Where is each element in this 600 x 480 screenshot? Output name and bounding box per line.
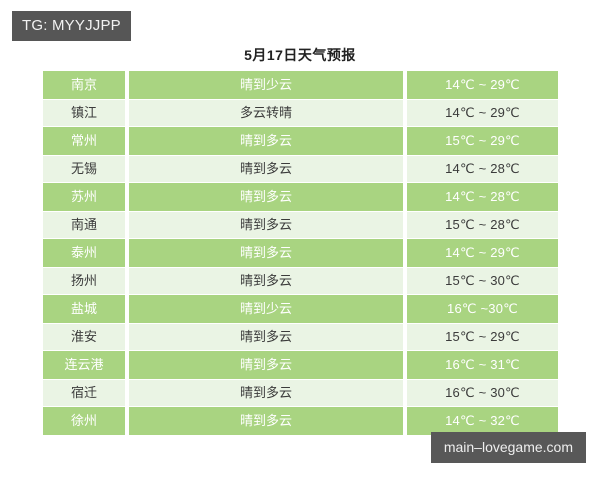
condition-cell: 晴到多云 — [129, 267, 403, 295]
city-cell: 淮安 — [43, 323, 125, 351]
table-row: 连云港晴到多云16℃ ~ 31℃ — [43, 351, 558, 379]
temperature-cell: 16℃ ~ 31℃ — [407, 351, 558, 379]
page-title: 5月17日天气预报 — [0, 45, 600, 65]
temperature-cell: 16℃ ~30℃ — [407, 295, 558, 323]
condition-cell: 晴到多云 — [129, 155, 403, 183]
condition-cell: 晴到多云 — [129, 407, 403, 435]
table-row: 泰州晴到多云14℃ ~ 29℃ — [43, 239, 558, 267]
city-cell: 徐州 — [43, 407, 125, 435]
condition-cell: 晴到多云 — [129, 127, 403, 155]
condition-cell: 晴到多云 — [129, 211, 403, 239]
temperature-cell: 15℃ ~ 29℃ — [407, 323, 558, 351]
temperature-cell: 14℃ ~ 28℃ — [407, 155, 558, 183]
table-row: 徐州晴到多云14℃ ~ 32℃ — [43, 407, 558, 435]
weather-forecast-table: 南京晴到少云14℃ ~ 29℃镇江多云转晴14℃ ~ 29℃常州晴到多云15℃ … — [43, 71, 558, 435]
site-watermark: main–lovegame.com — [431, 432, 586, 463]
temperature-cell: 15℃ ~ 30℃ — [407, 267, 558, 295]
table-row: 无锡晴到多云14℃ ~ 28℃ — [43, 155, 558, 183]
city-cell: 扬州 — [43, 267, 125, 295]
channel-tag-label: TG: MYYJJPP — [22, 17, 121, 34]
city-cell: 盐城 — [43, 295, 125, 323]
city-cell: 苏州 — [43, 183, 125, 211]
table-row: 淮安晴到多云15℃ ~ 29℃ — [43, 323, 558, 351]
temperature-cell: 14℃ ~ 29℃ — [407, 71, 558, 99]
table-row: 南通晴到多云15℃ ~ 28℃ — [43, 211, 558, 239]
city-cell: 连云港 — [43, 351, 125, 379]
table-row: 镇江多云转晴14℃ ~ 29℃ — [43, 99, 558, 127]
condition-cell: 晴到多云 — [129, 239, 403, 267]
temperature-cell: 16℃ ~ 30℃ — [407, 379, 558, 407]
weather-forecast-body: 南京晴到少云14℃ ~ 29℃镇江多云转晴14℃ ~ 29℃常州晴到多云15℃ … — [43, 71, 558, 435]
table-row: 南京晴到少云14℃ ~ 29℃ — [43, 71, 558, 99]
condition-cell: 多云转晴 — [129, 99, 403, 127]
table-row: 苏州晴到多云14℃ ~ 28℃ — [43, 183, 558, 211]
temperature-cell: 14℃ ~ 28℃ — [407, 183, 558, 211]
table-row: 扬州晴到多云15℃ ~ 30℃ — [43, 267, 558, 295]
city-cell: 泰州 — [43, 239, 125, 267]
temperature-cell: 14℃ ~ 29℃ — [407, 99, 558, 127]
temperature-cell: 14℃ ~ 32℃ — [407, 407, 558, 435]
table-row: 常州晴到多云15℃ ~ 29℃ — [43, 127, 558, 155]
condition-cell: 晴到多云 — [129, 323, 403, 351]
condition-cell: 晴到多云 — [129, 183, 403, 211]
city-cell: 南京 — [43, 71, 125, 99]
condition-cell: 晴到少云 — [129, 71, 403, 99]
condition-cell: 晴到多云 — [129, 351, 403, 379]
city-cell: 镇江 — [43, 99, 125, 127]
temperature-cell: 15℃ ~ 28℃ — [407, 211, 558, 239]
city-cell: 南通 — [43, 211, 125, 239]
temperature-cell: 15℃ ~ 29℃ — [407, 127, 558, 155]
temperature-cell: 14℃ ~ 29℃ — [407, 239, 558, 267]
table-row: 宿迁晴到多云16℃ ~ 30℃ — [43, 379, 558, 407]
channel-tag: TG: MYYJJPP — [12, 11, 131, 41]
city-cell: 常州 — [43, 127, 125, 155]
table-row: 盐城晴到少云16℃ ~30℃ — [43, 295, 558, 323]
condition-cell: 晴到多云 — [129, 379, 403, 407]
city-cell: 无锡 — [43, 155, 125, 183]
condition-cell: 晴到少云 — [129, 295, 403, 323]
site-watermark-label: main–lovegame.com — [444, 439, 573, 455]
city-cell: 宿迁 — [43, 379, 125, 407]
